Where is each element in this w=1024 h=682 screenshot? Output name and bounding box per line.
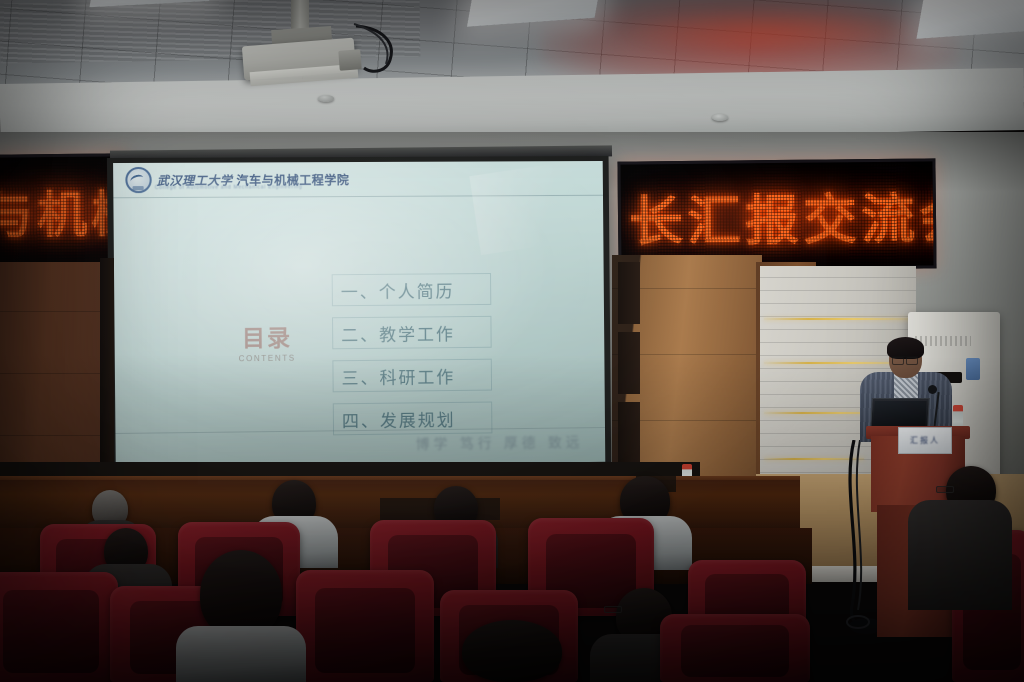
toc-item-4-index: 四、 — [342, 406, 380, 431]
podium-nameplate: 汇报人 — [898, 427, 952, 454]
college-name-english: College of Automotive and Mechanical Eng… — [155, 184, 303, 191]
toc-item-1-index: 一、 — [341, 277, 379, 302]
laptop-screen — [873, 401, 926, 426]
university-seal-logo-icon — [125, 167, 152, 193]
slide-header: 武汉理工大学汽车与机械工程学院 College of Automotive an… — [113, 161, 603, 198]
toc-item-3-label: 科研工作 — [379, 363, 455, 389]
audience-glasses-icon — [936, 486, 954, 493]
wall-niche — [618, 332, 640, 394]
podium-nameplate-text: 汇报人 — [910, 435, 940, 446]
slide-toc-list: 一、个人简历 二、教学工作 三、科研工作 四、发展规划 — [332, 273, 493, 446]
toc-item-2-label: 教学工作 — [379, 320, 455, 346]
audience-glasses-icon — [604, 606, 622, 613]
slide-footer-text: 博学 笃行 厚德 致远 — [416, 432, 584, 454]
toc-item-2: 二、教学工作 — [332, 316, 492, 349]
contents-label-en: CONTENTS — [212, 353, 323, 363]
lecture-hall-photo: 与机械 长汇报交流会 武汉理工大学汽车与机械工程学院 College of Au… — [0, 0, 1024, 682]
projector-cable-icon — [352, 22, 400, 80]
contents-label-cn: 目录 — [211, 318, 322, 353]
slide-footer: 博学 笃行 厚德 致远 — [115, 427, 605, 462]
right-led-banner-text: 长汇报交流会 — [629, 173, 937, 256]
toc-item-3-index: 三、 — [341, 363, 379, 388]
toc-item-4-label: 发展规划 — [380, 405, 456, 431]
smoke-detector-icon — [318, 95, 334, 102]
cabinet-badge — [966, 358, 980, 380]
toc-item-1-label: 个人简历 — [379, 277, 455, 303]
audience-body — [908, 500, 1012, 610]
smoke-detector-icon — [712, 114, 728, 121]
speaker-glasses-icon — [892, 356, 918, 363]
audience-head — [200, 550, 282, 638]
ceiling-red-glow-core — [620, 8, 920, 54]
slide-body: 目录 CONTENTS 一、个人简历 二、教学工作 三、科研工作 四、发展规划 — [113, 195, 605, 469]
contents-label: 目录 CONTENTS — [211, 318, 322, 363]
toc-item-3: 三、科研工作 — [332, 359, 492, 393]
auditorium-seat — [0, 572, 118, 682]
wall-niche — [618, 262, 640, 324]
auditorium-seat — [660, 614, 810, 682]
presentation-slide: 武汉理工大学汽车与机械工程学院 College of Automotive an… — [113, 161, 605, 468]
gold-accent-line — [764, 318, 912, 320]
microphone-head-icon — [928, 385, 937, 394]
projection-screen: 武汉理工大学汽车与机械工程学院 College of Automotive an… — [107, 156, 611, 476]
toc-item-2-index: 二、 — [341, 320, 379, 345]
audience-head — [462, 620, 562, 682]
wall-niche — [618, 402, 640, 464]
toc-item-1: 一、个人简历 — [332, 273, 492, 306]
podium-laptop[interactable] — [870, 398, 930, 429]
auditorium-seat — [296, 570, 434, 682]
audience-body — [176, 626, 306, 682]
